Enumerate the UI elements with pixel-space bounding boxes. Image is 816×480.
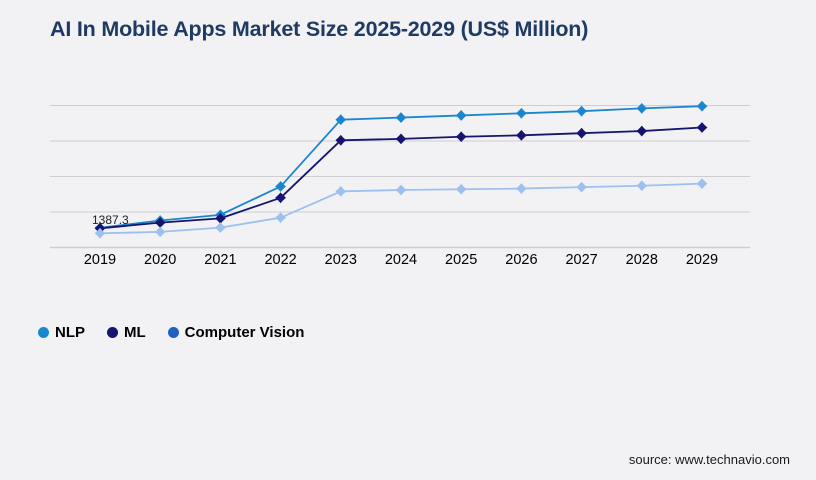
data-point-marker[interactable] xyxy=(396,112,407,123)
data-point-marker[interactable] xyxy=(576,128,587,139)
legend-label: Computer Vision xyxy=(185,324,305,341)
x-tick-label-2024: 2024 xyxy=(385,252,417,268)
legend-marker-icon xyxy=(38,327,49,338)
legend-marker-icon xyxy=(107,327,118,338)
data-label-first-point: 1387.3 xyxy=(92,213,129,227)
x-tick-label-2028: 2028 xyxy=(626,252,658,268)
x-tick-label-2022: 2022 xyxy=(264,252,296,268)
x-tick-label-2027: 2027 xyxy=(565,252,597,268)
data-point-marker[interactable] xyxy=(456,184,467,195)
data-point-marker[interactable] xyxy=(215,222,226,233)
data-point-marker[interactable] xyxy=(335,186,346,197)
chart-root: AI In Mobile Apps Market Size 2025-2029 … xyxy=(0,0,816,480)
chart-legend: NLPMLComputer Vision xyxy=(38,324,326,341)
data-point-marker[interactable] xyxy=(155,217,166,228)
legend-item-ml[interactable]: ML xyxy=(107,324,146,341)
legend-item-nlp[interactable]: NLP xyxy=(38,324,85,341)
series-line-nlp xyxy=(100,106,702,228)
x-tick-label-2029: 2029 xyxy=(686,252,718,268)
legend-label: NLP xyxy=(55,324,85,341)
legend-label: ML xyxy=(124,324,146,341)
plot-area: 1387.3 201920202021202220232024202520262… xyxy=(0,0,816,480)
data-point-marker[interactable] xyxy=(636,180,647,191)
legend-marker-icon xyxy=(168,327,179,338)
line-chart-svg xyxy=(0,0,816,480)
x-axis-tick-labels: 2019202020212022202320242025202620272028… xyxy=(0,252,816,276)
data-point-marker[interactable] xyxy=(636,103,647,114)
data-point-marker[interactable] xyxy=(516,108,527,119)
x-tick-label-2026: 2026 xyxy=(505,252,537,268)
data-point-marker[interactable] xyxy=(155,226,166,237)
data-point-marker[interactable] xyxy=(636,126,647,137)
x-tick-label-2025: 2025 xyxy=(445,252,477,268)
data-point-marker[interactable] xyxy=(275,212,286,223)
data-point-marker[interactable] xyxy=(697,178,708,189)
data-point-marker[interactable] xyxy=(396,133,407,144)
x-tick-label-2019: 2019 xyxy=(84,252,116,268)
data-point-marker[interactable] xyxy=(516,183,527,194)
data-point-marker[interactable] xyxy=(576,182,587,193)
x-tick-label-2020: 2020 xyxy=(144,252,176,268)
data-point-marker[interactable] xyxy=(516,130,527,141)
data-point-marker[interactable] xyxy=(576,106,587,117)
data-point-marker[interactable] xyxy=(697,122,708,133)
source-note: source: www.technavio.com xyxy=(629,452,790,467)
data-point-marker[interactable] xyxy=(456,110,467,121)
data-point-marker[interactable] xyxy=(697,101,708,112)
gridlines-group xyxy=(50,106,750,248)
legend-item-computer-vision[interactable]: Computer Vision xyxy=(168,324,305,341)
x-tick-label-2021: 2021 xyxy=(204,252,236,268)
x-tick-label-2023: 2023 xyxy=(325,252,357,268)
data-point-marker[interactable] xyxy=(396,185,407,196)
series-lines-group xyxy=(100,106,702,233)
